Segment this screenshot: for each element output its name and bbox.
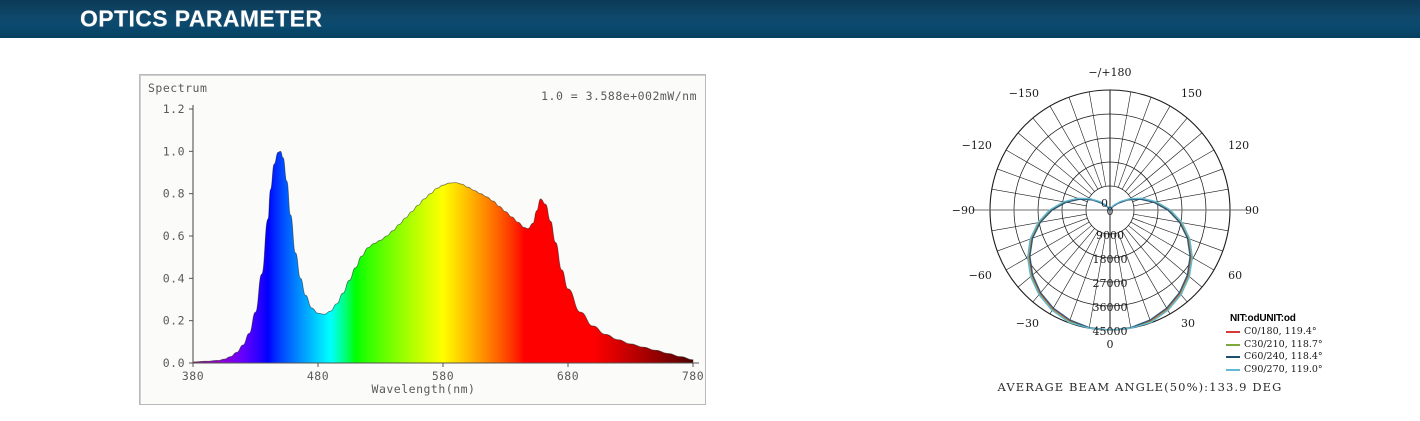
legend-item-label: C60/240, 118.4° [1244, 351, 1323, 364]
page-title: OPTICS PARAMETER [80, 6, 322, 33]
svg-text:0.8: 0.8 [163, 187, 185, 201]
svg-text:30: 30 [1181, 317, 1195, 330]
svg-text:90: 90 [1245, 204, 1259, 217]
spectrum-x-axis-title: Wavelength(nm) [140, 382, 707, 396]
legend-color-swatch [1226, 331, 1240, 333]
svg-text:1.0: 1.0 [163, 144, 185, 158]
polar-legend-item: C60/240, 118.4° [1226, 351, 1323, 364]
spectrum-chart-inner: Spectrum 1.0 = 3.588e+002mW/nm 0.00.20.4… [140, 75, 705, 404]
legend-color-swatch [1226, 344, 1240, 346]
polar-legend-item: C90/270, 119.0° [1226, 364, 1323, 377]
legend-item-label: C90/270, 119.0° [1244, 364, 1323, 377]
svg-text:680: 680 [557, 369, 579, 383]
optics-parameter-page: OPTICS PARAMETER Spectrum 1.0 = 3.588e+0… [0, 0, 1420, 421]
svg-text:380: 380 [182, 369, 204, 383]
polar-legend-title: NIT:odUNIT:od [1230, 313, 1323, 324]
section-header-bar: OPTICS PARAMETER [0, 0, 1420, 38]
svg-text:−150: −150 [1009, 87, 1039, 100]
svg-text:0.0: 0.0 [163, 356, 185, 370]
legend-color-swatch [1226, 356, 1240, 358]
legend-color-swatch [1226, 369, 1240, 371]
svg-text:480: 480 [307, 369, 329, 383]
svg-text:780: 780 [682, 369, 704, 383]
svg-text:580: 580 [432, 369, 454, 383]
svg-text:45000: 45000 [1093, 325, 1128, 338]
svg-text:−90: −90 [952, 204, 975, 217]
polar-legend-item: C0/180, 119.4° [1226, 326, 1323, 339]
spectrum-plot: 0.00.20.40.60.81.01.2380480580680780 [140, 75, 707, 406]
svg-text:150: 150 [1181, 87, 1202, 100]
polar-legend: NIT:odUNIT:od C0/180, 119.4°C30/210, 118… [1226, 313, 1323, 376]
polar-legend-item: C30/210, 118.7° [1226, 339, 1323, 352]
svg-text:120: 120 [1228, 139, 1249, 152]
polar-legend-rows: C0/180, 119.4°C30/210, 118.7°C60/240, 11… [1226, 326, 1323, 376]
svg-text:0: 0 [1101, 197, 1108, 210]
svg-text:−60: −60 [969, 269, 992, 282]
average-beam-angle-caption: AVERAGE BEAM ANGLE(50%):133.9 DEG [940, 380, 1340, 394]
polar-intensity-panel: 09000180002700036000450000−/+180−150150−… [940, 62, 1340, 412]
svg-text:60: 60 [1228, 269, 1242, 282]
svg-text:0.4: 0.4 [163, 271, 185, 285]
svg-text:0: 0 [1107, 338, 1114, 351]
svg-text:0.6: 0.6 [163, 229, 185, 243]
svg-text:−/+180: −/+180 [1088, 66, 1131, 79]
spectrum-chart-panel: Spectrum 1.0 = 3.588e+002mW/nm 0.00.20.4… [139, 74, 706, 405]
legend-item-label: C30/210, 118.7° [1244, 339, 1323, 352]
svg-text:9000: 9000 [1096, 229, 1124, 242]
svg-text:−30: −30 [1016, 317, 1039, 330]
svg-text:18000: 18000 [1093, 253, 1128, 266]
svg-text:0.2: 0.2 [163, 314, 185, 328]
svg-text:36000: 36000 [1093, 301, 1128, 314]
svg-text:1.2: 1.2 [163, 102, 185, 116]
svg-text:−120: −120 [962, 139, 992, 152]
svg-text:27000: 27000 [1093, 277, 1128, 290]
legend-item-label: C0/180, 119.4° [1244, 326, 1317, 339]
